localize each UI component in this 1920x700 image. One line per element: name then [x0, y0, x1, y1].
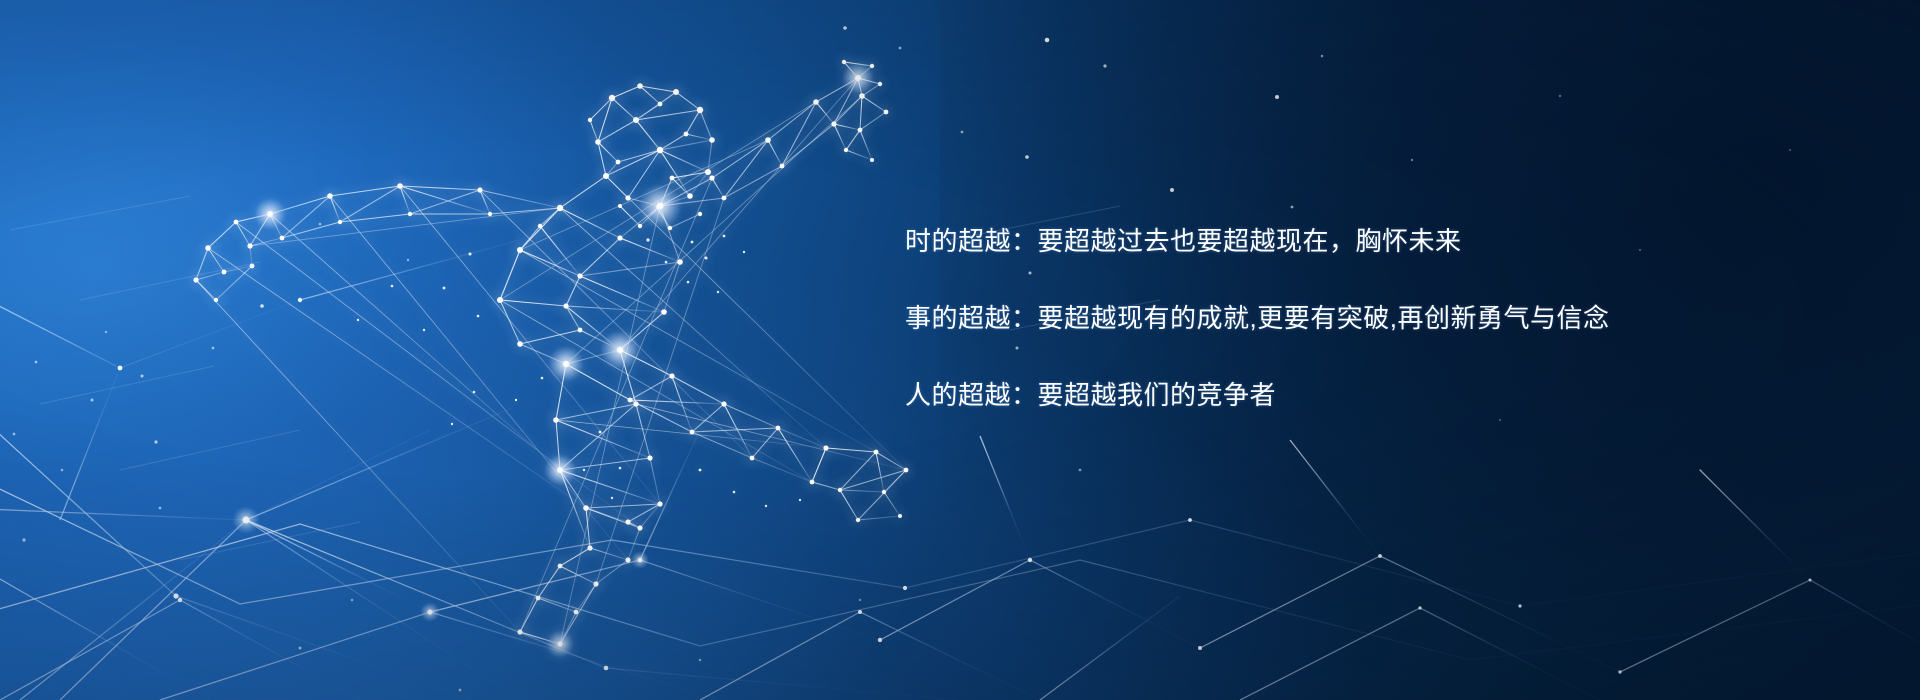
tagline-matter: 事的超越：要超越现有的成就,更要有突破,再创新勇气与信念 — [905, 305, 1845, 331]
tagline-people: 人的超越：要超越我们的竞争者 — [905, 382, 1845, 408]
hero-banner: 时的超越：要超越过去也要超越现在，胸怀未来 事的超越：要超越现有的成就,更要有突… — [0, 0, 1920, 700]
tagline-time: 时的超越：要超越过去也要超越现在，胸怀未来 — [905, 228, 1845, 254]
tagline-block: 时的超越：要超越过去也要超越现在，胸怀未来 事的超越：要超越现有的成就,更要有突… — [905, 228, 1845, 408]
